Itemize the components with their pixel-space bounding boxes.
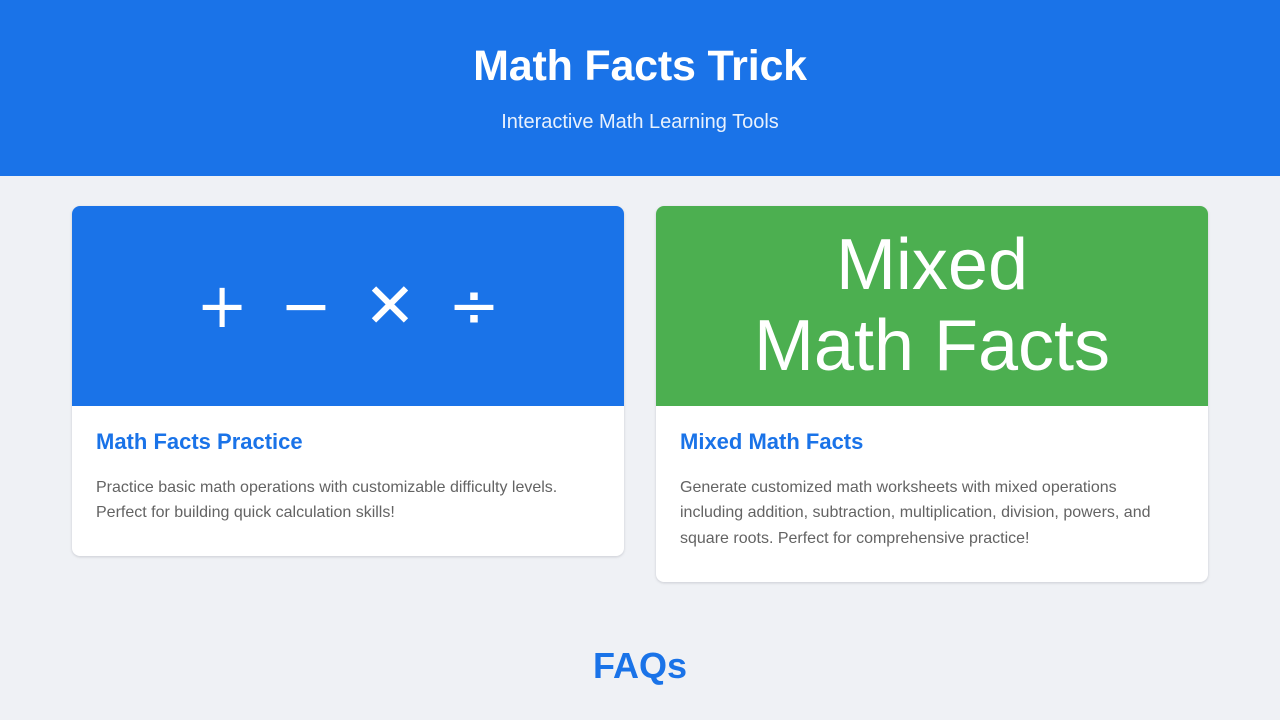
faq-section: FAQs — [0, 644, 1280, 687]
math-operators-group: + − ✕ ÷ — [196, 275, 500, 337]
plus-icon: + — [196, 275, 248, 337]
main-content: + − ✕ ÷ Math Facts Practice Practice bas… — [0, 176, 1280, 687]
card-description: Practice basic math operations with cust… — [96, 475, 600, 527]
tool-card-math-facts-practice[interactable]: + − ✕ ÷ Math Facts Practice Practice bas… — [72, 206, 624, 556]
tool-card-mixed-math-facts[interactable]: Mixed Math Facts Mixed Math Facts Genera… — [656, 206, 1208, 582]
page-subtitle: Interactive Math Learning Tools — [501, 110, 779, 134]
card-banner-operators: + − ✕ ÷ — [72, 206, 624, 406]
faq-heading: FAQs — [0, 644, 1280, 687]
minus-icon: − — [280, 275, 332, 337]
card-body: Math Facts Practice Practice basic math … — [72, 406, 624, 556]
page-title: Math Facts Trick — [473, 42, 807, 90]
card-title[interactable]: Math Facts Practice — [96, 428, 600, 456]
card-body: Mixed Math Facts Generate customized mat… — [656, 406, 1208, 582]
multiply-icon: ✕ — [364, 275, 416, 337]
tool-cards-row: + − ✕ ÷ Math Facts Practice Practice bas… — [0, 176, 1280, 582]
card-banner-wordmark: Mixed Math Facts — [656, 206, 1208, 406]
card-description: Generate customized math worksheets with… — [680, 475, 1184, 553]
divide-icon: ÷ — [448, 275, 500, 337]
page-header: Math Facts Trick Interactive Math Learni… — [0, 0, 1280, 176]
banner-wordmark-text: Mixed Math Facts — [734, 225, 1130, 386]
card-title[interactable]: Mixed Math Facts — [680, 428, 1184, 456]
